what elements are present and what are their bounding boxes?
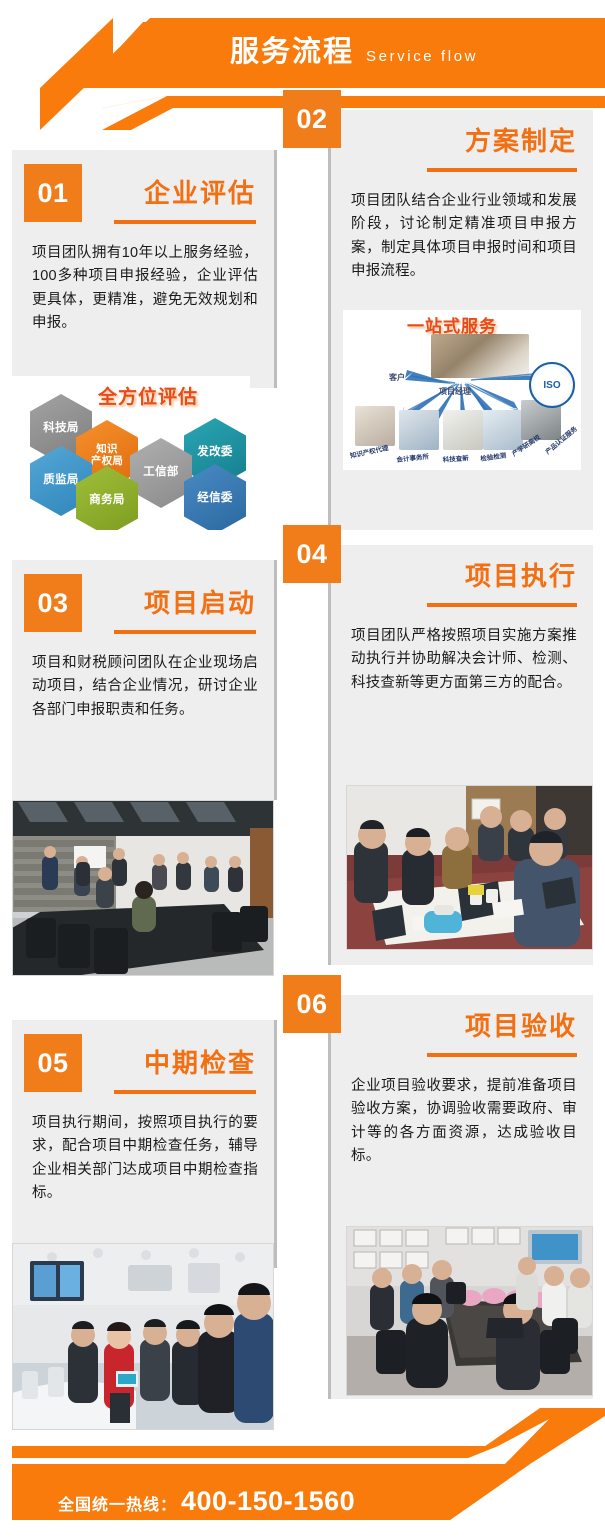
title-underline-04 <box>427 603 577 607</box>
hotline-number[interactable]: 400-150-1560 <box>181 1486 355 1517</box>
hex-assessment-diagram: 全方位评估 科技局 知识产权局 发改委 质监局 工信部 商务局 经信委 <box>12 376 250 530</box>
step-title-02: 方案制定 <box>465 128 577 154</box>
step-card-01[interactable]: 01 企业评估 项目团队拥有10年以上服务经验，100多种项目申报经验，企业评估… <box>12 150 274 388</box>
step-body-05: 项目执行期间，按照项目执行的要求，配合项目中期检查任务，辅导企业相关部门达成项目… <box>32 1112 258 1206</box>
step-number-badge-06: 06 <box>283 975 341 1033</box>
title-underline-01 <box>114 220 256 224</box>
step-body-04: 项目团队严格按照项目实施方案推动执行并协助解决会计师、检测、科技查新等更方面第三… <box>351 625 577 695</box>
step-number-badge-04: 04 <box>283 525 341 583</box>
service-label-customer: 客户 <box>389 372 405 383</box>
step-number-badge-05: 05 <box>24 1034 82 1092</box>
step-number-badge-02: 02 <box>283 90 341 148</box>
header-title-cn: 服务流程 <box>230 38 354 67</box>
one-stop-service-diagram: 一站式服务 <box>343 310 581 470</box>
iso-certification-seal: ISO <box>529 362 575 408</box>
photo-meeting-room-art <box>12 800 274 976</box>
service-node-sci-search <box>443 410 483 450</box>
step-title-01: 企业评估 <box>144 180 256 206</box>
step-number-badge-01: 01 <box>24 164 82 222</box>
title-underline-03 <box>114 630 256 634</box>
photo-acceptance-meeting <box>346 1226 593 1396</box>
hotline-group: 全国统一热线： 400-150-1560 <box>58 1486 355 1517</box>
service-node-ip-agency <box>355 406 395 446</box>
step-title-05: 中期检查 <box>144 1050 256 1076</box>
step-card-05[interactable]: 05 中期检查 项目执行期间，按照项目执行的要求，配合项目中期检查任务，辅导企业… <box>12 1020 274 1268</box>
step-body-06: 企业项目验收要求，提前准备项目验收方案，协调验收需要政府、审计等的各方面资源，达… <box>351 1075 577 1169</box>
step-body-02: 项目团队结合企业行业领域和发展阶段，讨论制定精准项目申报方案，制定具体项目申报时… <box>351 190 577 284</box>
service-flow-infographic: 服务流程 Service flow 01 企业评估 项目团队拥有10年以上服务经… <box>0 0 605 1538</box>
step-title-06: 项目验收 <box>465 1013 577 1039</box>
title-underline-06 <box>427 1053 577 1057</box>
service-label-manager: 项目经理 <box>439 386 471 397</box>
step-body-01: 项目团队拥有10年以上服务经验，100多种项目申报经验，企业评估更具体，更精准，… <box>32 242 258 336</box>
footer-banner: 全国统一热线： 400-150-1560 <box>0 1408 605 1538</box>
header-title-group: 服务流程 Service flow <box>230 38 478 67</box>
title-underline-02 <box>427 168 577 172</box>
hex-diagram-title: 全方位评估 <box>98 382 198 409</box>
step-title-03: 项目启动 <box>144 590 256 616</box>
photo-site-visit-art <box>12 1243 274 1430</box>
footer-banner-shape <box>0 1408 605 1538</box>
step-number-badge-03: 03 <box>24 574 82 632</box>
step-card-03[interactable]: 03 项目启动 项目和财税顾问团队在企业现场启动项目，结合企业情况，研讨企业各部… <box>12 560 274 800</box>
photo-working-session <box>346 785 593 950</box>
step-card-02[interactable]: 02 方案制定 项目团队结合企业行业领域和发展阶段，讨论制定精准项目申报方案，制… <box>331 110 593 530</box>
title-underline-05 <box>114 1090 256 1094</box>
service-label-sci-search: 科技查新 <box>442 452 469 464</box>
header-title-en: Service flow <box>366 49 478 64</box>
photo-site-visit <box>12 1243 274 1430</box>
photo-acceptance-meeting-art <box>346 1226 593 1396</box>
step-body-03: 项目和财税顾问团队在企业现场启动项目，结合企业情况，研讨企业各部门申报职责和任务… <box>32 652 258 722</box>
hex-node-gongxinbu: 工信部 <box>130 438 192 508</box>
service-node-accounting <box>399 410 439 450</box>
hotline-label: 全国统一热线： <box>58 1491 177 1515</box>
photo-working-session-art <box>346 785 593 950</box>
photo-meeting-room <box>12 800 274 976</box>
step-title-04: 项目执行 <box>465 563 577 589</box>
